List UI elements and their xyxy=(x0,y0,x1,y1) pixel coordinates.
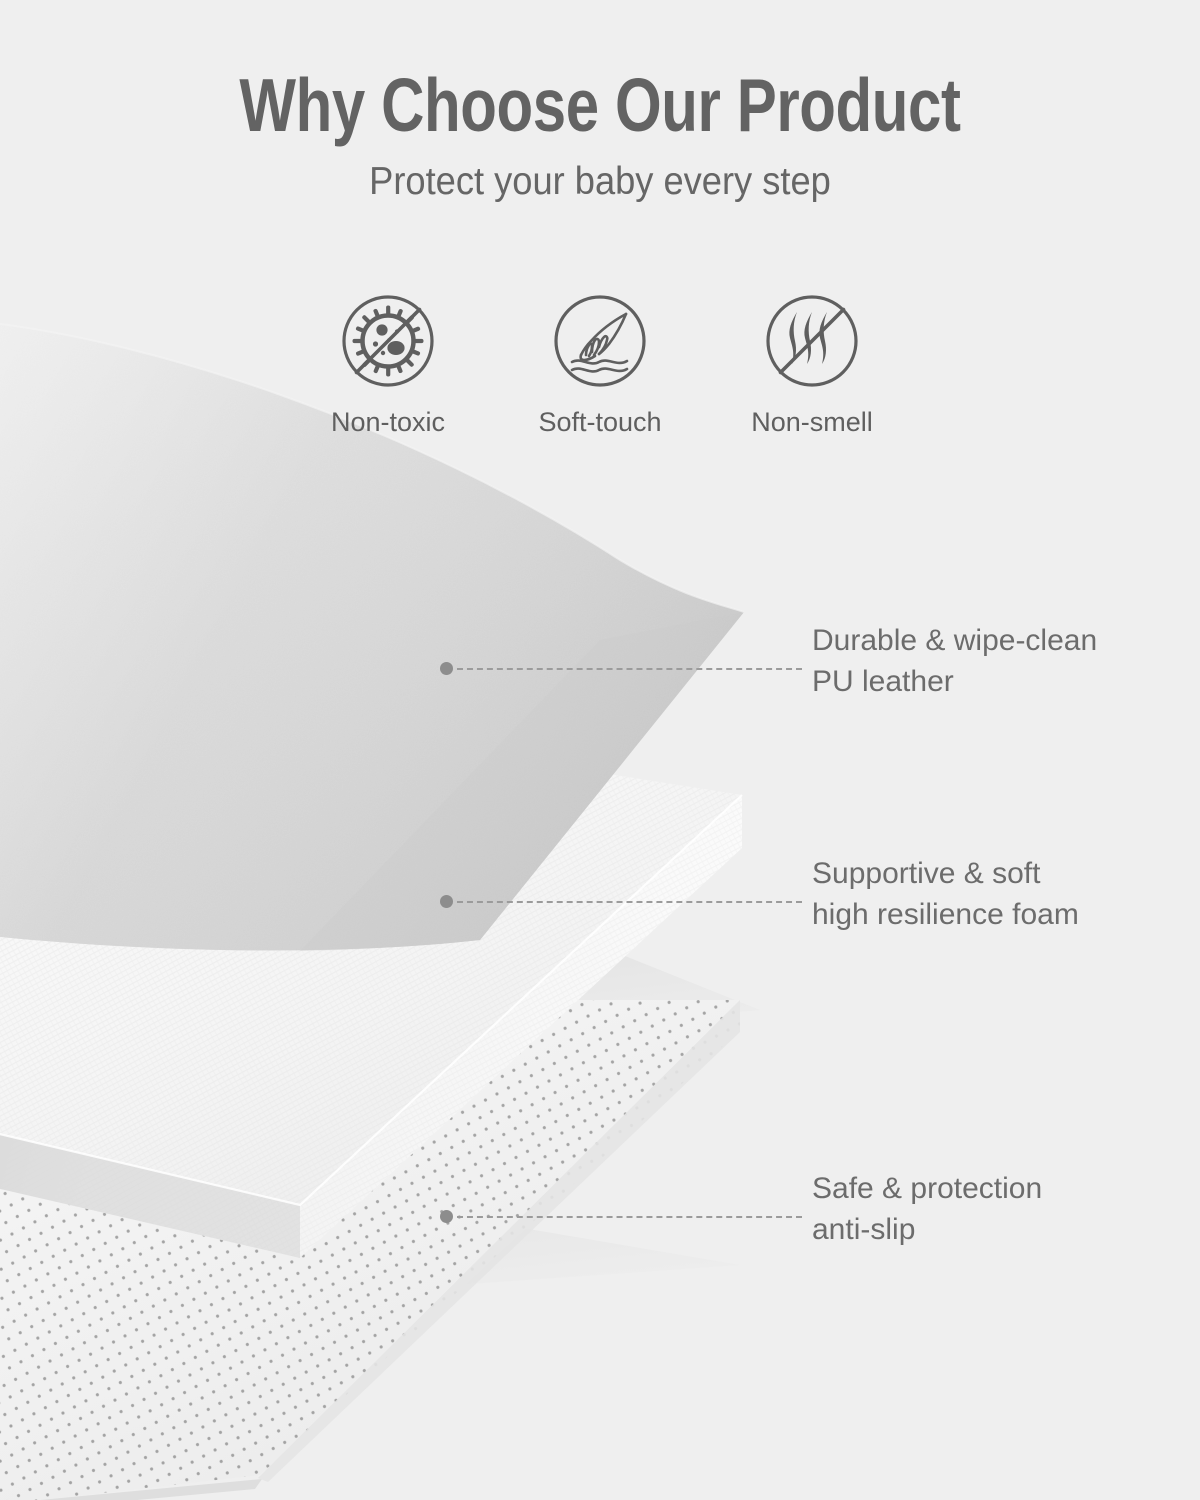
callout-leader-line xyxy=(457,1216,802,1218)
badge-label: Non-smell xyxy=(751,407,873,437)
page-subtitle: Protect your baby every step xyxy=(42,144,1158,204)
callout-dot xyxy=(440,662,453,675)
callout-leader-line xyxy=(457,668,802,670)
badge-label: Soft-touch xyxy=(538,407,661,437)
header: Why Choose Our Product Protect your baby… xyxy=(0,0,1200,204)
germ-no-entry-icon xyxy=(335,288,441,394)
page-title: Why Choose Our Product xyxy=(120,0,1080,144)
callout-foam: Supportive & soft high resilience foam xyxy=(440,895,802,908)
callout-anti-slip: Safe & protection anti-slip xyxy=(440,1210,802,1223)
badge-label: Non-toxic xyxy=(331,407,445,437)
exploded-product-layers xyxy=(0,0,1200,1500)
badge-non-smell: Non-smell xyxy=(758,288,866,437)
callout-text: Supportive & soft high resilience foam xyxy=(812,853,1079,935)
callout-text: Durable & wipe-clean PU leather xyxy=(812,620,1097,702)
callout-dot xyxy=(440,895,453,908)
odor-waves-no-entry-icon xyxy=(759,288,865,394)
feature-badge-row: Non-toxic xyxy=(0,288,1200,437)
callout-line-2: anti-slip xyxy=(812,1209,1042,1250)
callout-dot xyxy=(440,1210,453,1223)
callout-line-1: Durable & wipe-clean xyxy=(812,620,1097,661)
badge-non-toxic: Non-toxic xyxy=(334,288,442,437)
hand-touch-surface-icon xyxy=(547,288,653,394)
badge-soft-touch: Soft-touch xyxy=(546,288,654,437)
callout-line-1: Safe & protection xyxy=(812,1168,1042,1209)
callout-line-1: Supportive & soft xyxy=(812,853,1079,894)
callout-leader-line xyxy=(457,901,802,903)
callout-line-2: high resilience foam xyxy=(812,894,1079,935)
callout-text: Safe & protection anti-slip xyxy=(812,1168,1042,1250)
callout-pu-leather: Durable & wipe-clean PU leather xyxy=(440,662,802,675)
callout-line-2: PU leather xyxy=(812,661,1097,702)
product-feature-graphic: Why Choose Our Product Protect your baby… xyxy=(0,0,1200,1500)
